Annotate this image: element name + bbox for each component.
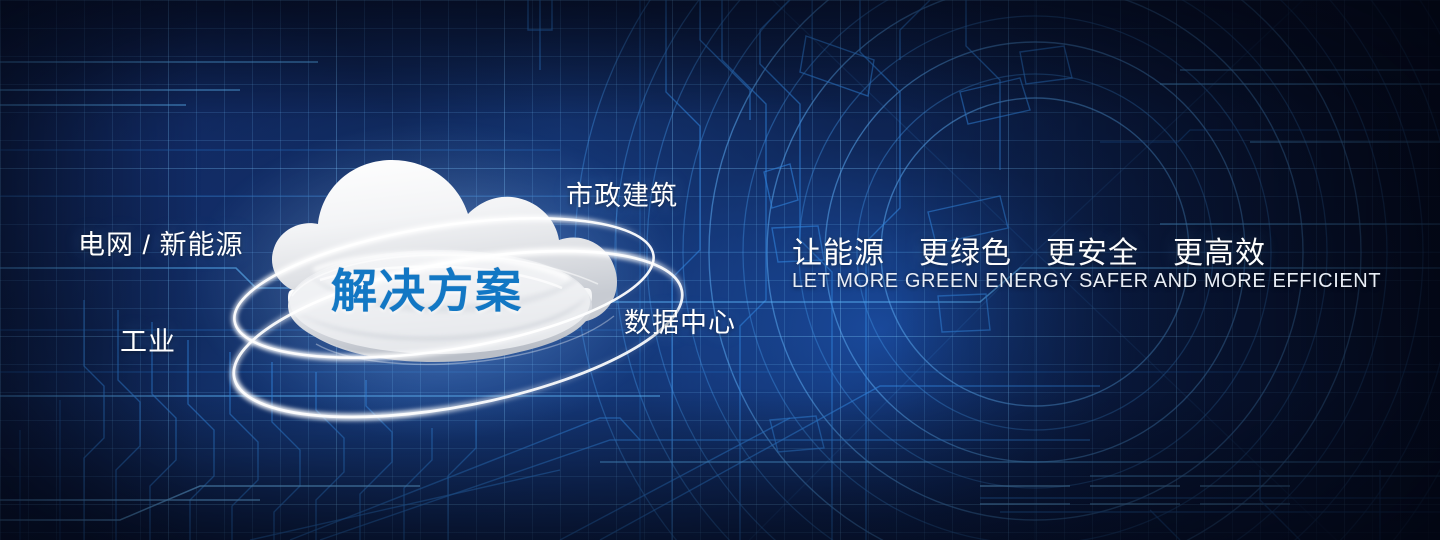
slogan-part-2: 更绿色 xyxy=(919,237,1012,270)
slogan-part-4: 更高效 xyxy=(1173,237,1266,270)
label-data-center: 数据中心 xyxy=(624,301,736,340)
page-title: 解决方案 xyxy=(331,255,523,321)
solution-banner: 解决方案 电网 / 新能源 工业 市政建筑 数据中心 让能源更绿色更安全更高效 … xyxy=(0,0,1440,540)
label-grid-new-energy: 电网 / 新能源 xyxy=(78,223,244,262)
label-industry: 工业 xyxy=(120,320,176,359)
slogan-part-3: 更安全 xyxy=(1046,237,1139,270)
label-municipal-building: 市政建筑 xyxy=(566,174,678,213)
slogan-chinese: 让能源更绿色更安全更高效 xyxy=(792,228,1266,272)
slogan-part-1: 让能源 xyxy=(792,237,885,270)
slogan-english: LET MORE GREEN ENERGY SAFER AND MORE EFF… xyxy=(792,270,1381,293)
